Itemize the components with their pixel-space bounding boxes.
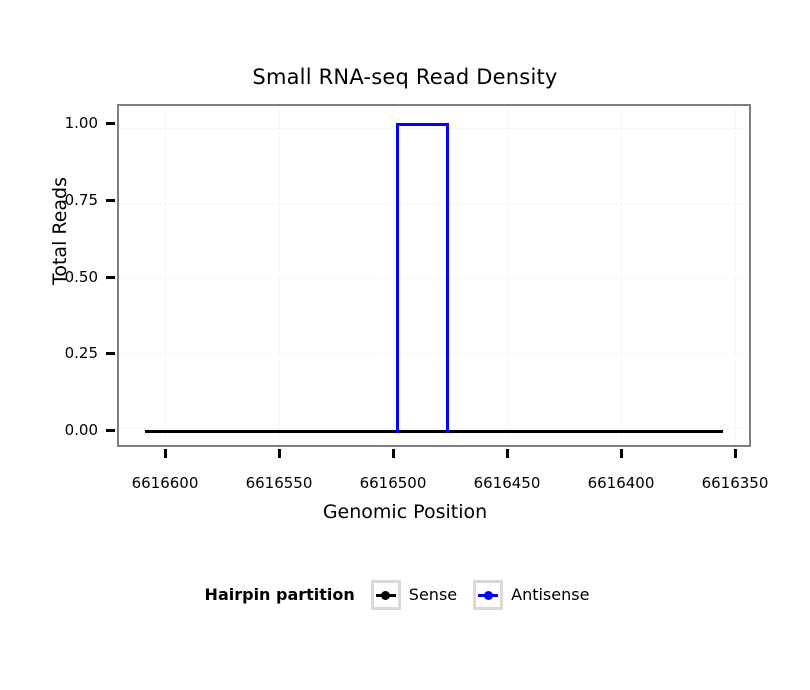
y-tick-3 — [106, 199, 115, 202]
series-line-sense — [145, 430, 723, 433]
legend-title: Hairpin partition — [205, 584, 355, 606]
y-tick-label-0: 0.00 — [0, 421, 98, 439]
point-icon — [484, 591, 493, 600]
legend-entry-sense[interactable]: Sense — [371, 580, 457, 610]
x-tick-5 — [734, 449, 737, 458]
y-tick-0 — [106, 429, 115, 432]
gridline-y-100 — [119, 128, 749, 129]
y-tick-1 — [106, 352, 115, 355]
y-tick-label-3: 0.75 — [0, 191, 98, 209]
series-line-antisense-rise — [396, 123, 399, 433]
y-tick-label-4: 1.00 — [0, 114, 98, 132]
point-icon — [381, 591, 390, 600]
chart-title: Small RNA-seq Read Density — [0, 64, 810, 90]
x-tick-3 — [506, 449, 509, 458]
gridline-x-6616450 — [507, 106, 508, 445]
gridline-y-075 — [119, 203, 749, 204]
y-tick-2 — [106, 276, 115, 279]
y-tick-4 — [106, 122, 115, 125]
legend-label-sense: Sense — [409, 584, 457, 606]
legend-key-antisense — [473, 580, 503, 610]
gridline-x-6616500 — [393, 106, 394, 445]
x-tick-label-5: 6616350 — [665, 474, 805, 492]
x-axis-title: Genomic Position — [0, 500, 810, 524]
legend: Hairpin partition Sense Antisense — [0, 580, 810, 610]
plot-panel — [117, 104, 751, 447]
gridline-x-6616600 — [165, 106, 166, 445]
x-tick-4 — [620, 449, 623, 458]
y-tick-label-2: 0.50 — [0, 268, 98, 286]
legend-label-antisense: Antisense — [511, 584, 589, 606]
y-axis-title: Total Reads — [48, 116, 72, 346]
gridline-y-025 — [119, 353, 749, 354]
legend-key-sense — [371, 580, 401, 610]
gridline-y-0 — [119, 428, 749, 429]
legend-entry-antisense[interactable]: Antisense — [473, 580, 589, 610]
x-tick-1 — [278, 449, 281, 458]
gridline-x-6616400 — [621, 106, 622, 445]
gridline-x-6616550 — [279, 106, 280, 445]
y-tick-label-1: 0.25 — [0, 344, 98, 362]
x-tick-2 — [392, 449, 395, 458]
plot-panel-inner — [119, 106, 749, 445]
chart-figure: Small RNA-seq Read Density Total Reads — [0, 0, 810, 690]
series-line-antisense-top — [396, 123, 449, 126]
gridline-y-050 — [119, 278, 749, 279]
series-line-antisense-fall — [446, 123, 449, 433]
x-tick-0 — [164, 449, 167, 458]
gridline-x-6616350 — [735, 106, 736, 445]
